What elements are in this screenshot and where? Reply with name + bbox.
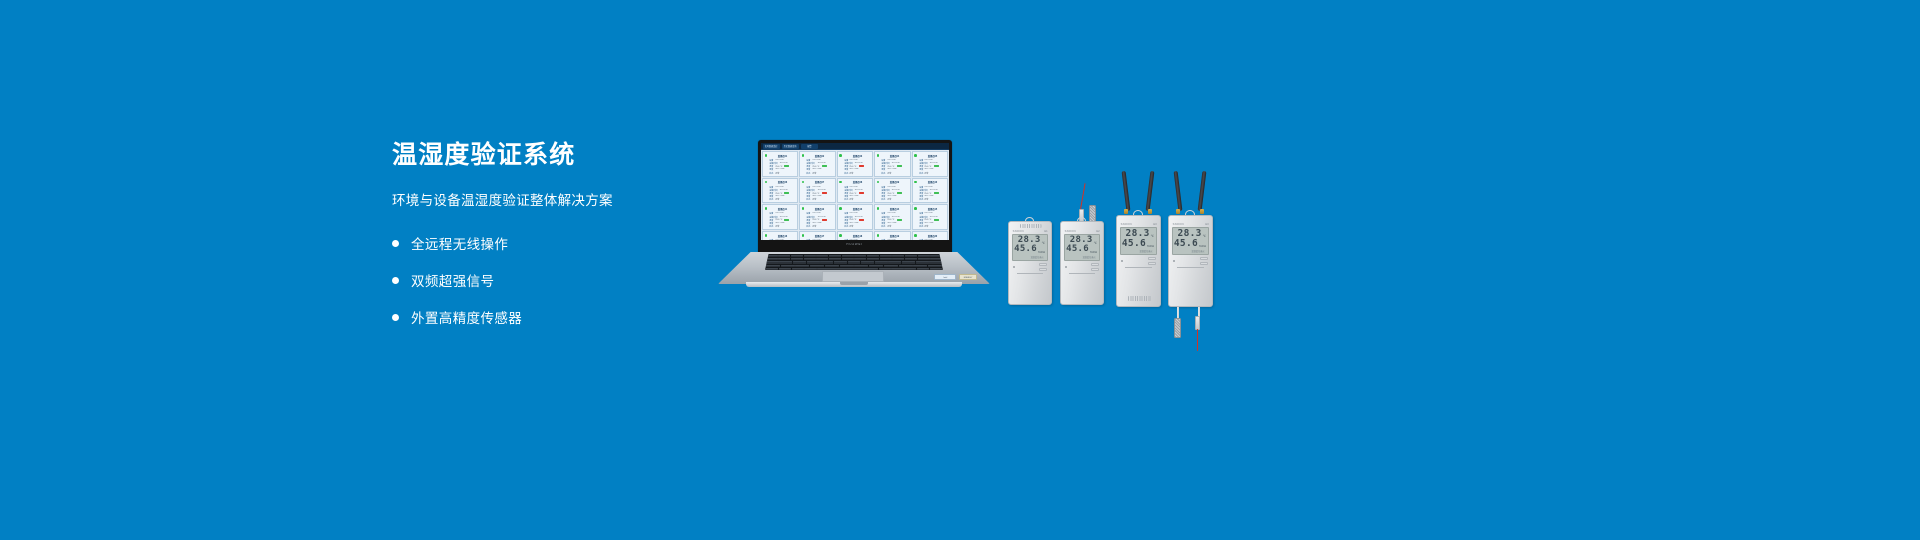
card-row-key: 设备 <box>769 238 773 240</box>
card-row: 状态正常 <box>844 198 871 201</box>
card-row: 状态正常 <box>881 198 908 201</box>
monitor-card[interactable]: 监测点16设备ZD-T100采集时间10:25:30温度25.6 ℃湿度48.2… <box>762 231 798 240</box>
monitor-card[interactable]: 监测点04设备ZD-T100采集时间10:25:30温度25.6 ℃湿度48.2… <box>874 151 910 177</box>
monitor-card[interactable]: 监测点08设备ZD-T100采集时间10:25:30温度25.6 ℃湿度48.2… <box>837 178 873 204</box>
laptop-base: Intel ENERGY <box>718 252 990 288</box>
card-row: 状态正常 <box>844 225 871 228</box>
card-status-dot-icon <box>877 181 880 184</box>
laptop-screen: 实时数据监控 历史数据查询 报警 监测点01设备ZD-T100采集时间10:25… <box>761 143 949 240</box>
keyboard-key[interactable] <box>829 258 841 260</box>
card-row-value: 10:25:30 <box>780 189 788 191</box>
probe-mesh-sensor <box>1174 318 1181 338</box>
device-1-body: SNOON H1 28.3 ℃ 45.6 %RH 温湿度记录仪 <box>1008 221 1052 305</box>
card-row-value: 10:25:30 <box>854 189 862 191</box>
keyboard-key[interactable] <box>840 265 854 267</box>
card-status-dot-icon <box>839 234 842 237</box>
page-subtitle: 环境与设备温湿度验证整体解决方案 <box>392 189 722 209</box>
laptop-brand-strip: HUAWEI <box>761 240 949 248</box>
lcd-humidity-value: 45.6 <box>1174 239 1198 249</box>
keyboard-key[interactable] <box>888 261 901 263</box>
antenna-right-icon <box>1146 171 1155 211</box>
monitor-card[interactable]: 监测点14设备ZD-T100采集时间10:25:30温度25.6 ℃湿度48.2… <box>874 204 910 230</box>
feature-list: 全远程无线操作 双频超强信号 外置高精度传感器 <box>392 231 722 330</box>
keyboard-key[interactable] <box>825 265 839 267</box>
card-row: 状态正常 <box>769 225 796 228</box>
device-1-lcd: 28.3 ℃ 45.6 %RH 温湿度记录仪 <box>1012 234 1048 261</box>
keyboard-key[interactable] <box>766 265 780 267</box>
card-title: 监测点07 <box>807 180 832 184</box>
keyboard-key[interactable] <box>930 268 942 270</box>
antenna-right-icon <box>1198 171 1207 211</box>
card-row-value: 25.6 ℃ <box>887 218 894 221</box>
card-row-value: 10:25:30 <box>854 162 862 164</box>
card-temp-status-chip <box>859 219 864 221</box>
card-status-dot-icon <box>802 234 805 237</box>
keyboard-key[interactable] <box>902 261 915 263</box>
feature-label: 双频超强信号 <box>411 270 494 290</box>
tab-label: 报警 <box>807 144 811 148</box>
card-row-value: ZD-T100 <box>925 239 933 240</box>
monitor-card[interactable]: 监测点13设备ZD-T100采集时间10:25:30温度25.6 ℃湿度48.2… <box>837 204 873 230</box>
card-row-value: 10:25:30 <box>817 162 825 164</box>
card-title: 监测点17 <box>807 234 832 238</box>
keyboard-key[interactable] <box>892 258 904 260</box>
monitor-card[interactable]: 监测点10设备ZD-T100采集时间10:25:30温度25.6 ℃湿度48.2… <box>912 178 948 204</box>
card-title: 监测点11 <box>770 207 795 211</box>
device-1-controls <box>1009 261 1051 272</box>
card-row-value: 10:25:30 <box>892 162 900 164</box>
card-row: 状态正常 <box>919 198 946 201</box>
lcd-footer-label: 温湿度记录仪 <box>1125 249 1153 253</box>
keyboard-key[interactable] <box>834 261 847 263</box>
card-title: 监测点09 <box>882 180 907 184</box>
card-row-key: 状态 <box>769 224 773 228</box>
monitor-card[interactable]: 监测点15设备ZD-T100采集时间10:25:30温度25.6 ℃湿度48.2… <box>912 204 948 230</box>
monitor-card[interactable]: 监测点12设备ZD-T100采集时间10:25:30温度25.6 ℃湿度48.2… <box>799 204 835 230</box>
device-key-down[interactable] <box>1148 262 1156 266</box>
monitor-card[interactable]: 监测点20设备ZD-T100采集时间10:25:30温度25.6 ℃湿度48.2… <box>912 231 948 240</box>
lcd-hum-line: 45.6 %RH <box>1015 245 1045 254</box>
keyboard-key[interactable] <box>917 268 929 270</box>
card-title: 监测点02 <box>807 154 832 158</box>
card-row: 状态正常 <box>881 225 908 228</box>
card-row-value: ZD-T100 <box>812 239 820 240</box>
keyboard-key[interactable] <box>816 255 828 257</box>
keyboard-key[interactable] <box>854 265 868 267</box>
lcd-humidity-unit: %RH <box>1147 245 1154 248</box>
card-status-dot-icon <box>765 234 768 237</box>
card-row: 状态正常 <box>769 198 796 201</box>
probe-wire <box>1197 329 1198 351</box>
card-row-value: 25.6 ℃ <box>812 192 819 195</box>
device-4: SNOON H3 28.3 ℃ 45.6 %RH 温湿度记录仪 <box>1168 215 1213 307</box>
keyboard-key[interactable] <box>880 258 892 260</box>
device-model-label: H3 <box>1153 222 1156 226</box>
card-title: 监测点16 <box>770 234 795 238</box>
keyboard-key[interactable] <box>791 258 803 260</box>
keyboard-key[interactable] <box>916 261 929 263</box>
card-status-dot-icon <box>877 234 880 237</box>
device-3-lcd: 28.3 ℃ 45.6 %RH 温湿度记录仪 <box>1120 227 1157 255</box>
monitor-card[interactable]: 监测点07设备ZD-T100采集时间10:25:30温度25.6 ℃湿度48.2… <box>799 178 835 204</box>
card-row-value: 正常 <box>850 198 854 202</box>
lcd-footer-label: 温湿度记录仪 <box>1177 249 1205 253</box>
keyboard-key[interactable] <box>804 258 816 260</box>
monitor-card[interactable]: 监测点03设备ZD-T100采集时间10:25:30温度25.6 ℃湿度48.2… <box>837 151 873 177</box>
card-row-value: 正常 <box>775 198 779 202</box>
tab-history[interactable]: 历史数据查询 <box>782 144 799 149</box>
monitor-card[interactable]: 监测点01设备ZD-T100采集时间10:25:30温度25.6 ℃湿度48.2… <box>762 151 798 177</box>
device-underline <box>1017 273 1043 274</box>
lcd-humidity-unit: %RH <box>1090 251 1097 254</box>
keyboard-key[interactable] <box>905 255 917 257</box>
device-brand-label: SNOON <box>1173 222 1184 226</box>
card-row-value: 正常 <box>924 171 928 175</box>
card-status-dot-icon <box>802 181 805 184</box>
keyboard-key[interactable] <box>766 268 778 270</box>
device-2-body: SNOON H2 28.3 ℃ 45.6 %RH 温湿度记录仪 <box>1060 221 1104 305</box>
card-status-dot-icon <box>877 207 880 210</box>
feature-item-3: 外置高精度传感器 <box>392 305 722 330</box>
keyboard-key[interactable] <box>880 255 892 257</box>
card-temp-status-chip <box>822 192 827 194</box>
feature-item-2: 双频超强信号 <box>392 268 722 293</box>
keyboard-key[interactable] <box>884 265 898 267</box>
card-temp-status-chip <box>784 192 789 194</box>
antenna-connector-left <box>1176 209 1180 214</box>
antenna-left-icon <box>1122 171 1131 211</box>
card-row: 状态正常 <box>769 171 796 174</box>
card-row: 状态正常 <box>881 171 908 174</box>
device-underline <box>1177 267 1204 268</box>
card-title: 监测点03 <box>845 154 870 158</box>
sticker-label: ENERGY <box>964 276 973 279</box>
keyboard-key[interactable] <box>918 258 930 260</box>
keyboard-key[interactable] <box>869 265 883 267</box>
card-row: 状态正常 <box>806 171 833 174</box>
card-row-value: 正常 <box>887 224 891 228</box>
device-keypad[interactable] <box>1039 263 1047 272</box>
card-row: 设备ZD-T100 <box>919 239 946 241</box>
card-row-value: 25.6 ℃ <box>850 218 857 221</box>
device-group: SNOON H1 28.3 ℃ 45.6 %RH 温湿度记录仪 <box>1000 185 1215 325</box>
keyboard-key[interactable] <box>766 261 779 263</box>
card-row-key: 状态 <box>769 198 773 202</box>
card-row-key: 状态 <box>844 171 848 175</box>
card-temp-status-chip <box>934 219 939 221</box>
device-keypad[interactable] <box>1148 257 1156 266</box>
laptop-lid: 实时数据监控 历史数据查询 报警 监测点01设备ZD-T100采集时间10:25… <box>758 140 952 252</box>
tab-label: 历史数据查询 <box>784 144 797 148</box>
card-row-key: 状态 <box>919 198 923 202</box>
keyboard-key[interactable] <box>848 261 861 263</box>
feature-label: 全远程无线操作 <box>411 233 508 253</box>
keyboard-key[interactable] <box>804 255 816 257</box>
card-row: 设备ZD-T100 <box>844 239 871 241</box>
lcd-temperature-unit: ℃ <box>1151 235 1154 238</box>
keyboard-key[interactable] <box>913 265 927 267</box>
card-status-dot-icon <box>839 154 842 157</box>
card-row-value: 10:25:30 <box>780 162 788 164</box>
device-brand-label: SNOON <box>1013 229 1024 233</box>
card-row-value: 正常 <box>924 198 928 202</box>
card-row-value: 25.6 ℃ <box>925 218 932 221</box>
monitor-card[interactable]: 监测点06设备ZD-T100采集时间10:25:30温度25.6 ℃湿度48.2… <box>762 178 798 204</box>
card-row-value: 正常 <box>924 224 928 228</box>
keyboard-key[interactable] <box>781 265 795 267</box>
tab-alarm[interactable]: 报警 <box>801 144 818 149</box>
card-row-key: 设备 <box>844 238 848 240</box>
copy-block: 温湿度验证系统 环境与设备温湿度验证整体解决方案 全远程无线操作 双频超强信号 … <box>392 141 722 342</box>
card-title: 监测点10 <box>920 180 945 184</box>
lcd-hum-line: 45.6 %RH <box>1123 239 1154 249</box>
status-led-icon <box>1173 260 1175 262</box>
app-topbar: 实时数据监控 历史数据查询 报警 <box>761 143 949 150</box>
antenna-connector-left <box>1124 209 1128 214</box>
bullet-dot-icon <box>392 314 399 321</box>
lcd-temperature-unit: ℃ <box>1094 242 1097 245</box>
device-3-body: SNOON H3 28.3 ℃ 45.6 %RH 温湿度记录仪 <box>1116 215 1161 307</box>
lcd-humidity-value: 45.6 <box>1066 245 1089 254</box>
card-row-value: 25.6 ℃ <box>812 218 819 221</box>
card-row-value: 25.6 ℃ <box>775 192 782 195</box>
keyboard-key[interactable] <box>778 258 790 260</box>
card-row-value: 正常 <box>775 171 779 175</box>
card-temp-status-chip <box>784 219 789 221</box>
card-title: 监测点04 <box>882 154 907 158</box>
card-row: 状态正常 <box>806 225 833 228</box>
card-row: 设备ZD-T100 <box>881 239 908 241</box>
card-row: 状态正常 <box>919 225 946 228</box>
keyboard-key[interactable] <box>817 268 877 270</box>
device-key-up[interactable] <box>1148 257 1156 261</box>
device-key-down[interactable] <box>1091 268 1099 272</box>
card-row-value: 正常 <box>887 171 891 175</box>
antenna-connector-right <box>1148 209 1152 214</box>
keyboard-key[interactable] <box>928 265 942 267</box>
card-status-dot-icon <box>802 207 805 210</box>
monitor-card[interactable]: 监测点02设备ZD-T100采集时间10:25:30温度25.6 ℃湿度48.2… <box>799 151 835 177</box>
keyboard-key[interactable] <box>842 255 854 257</box>
card-title: 监测点14 <box>882 207 907 211</box>
device-underline <box>1069 273 1095 274</box>
monitor-card-grid: 监测点01设备ZD-T100采集时间10:25:30温度25.6 ℃湿度48.2… <box>761 150 949 240</box>
card-row-key: 状态 <box>844 224 848 228</box>
card-row-value: 10:25:30 <box>817 189 825 191</box>
card-row: 状态正常 <box>919 171 946 174</box>
keyboard-key[interactable] <box>842 258 854 260</box>
status-led-icon <box>1065 266 1067 268</box>
keyboard-key[interactable] <box>929 261 942 263</box>
lcd-temperature-unit: ℃ <box>1042 242 1045 245</box>
device-key-down[interactable] <box>1039 268 1047 272</box>
card-row-value: 正常 <box>850 171 854 175</box>
card-status-dot-icon <box>914 181 917 184</box>
card-temp-status-chip <box>897 219 902 221</box>
monitor-card[interactable]: 监测点17设备ZD-T100采集时间10:25:30温度25.6 ℃湿度48.2… <box>799 231 835 240</box>
card-row-value: 正常 <box>812 171 816 175</box>
tab-label: 实时数据监控 <box>765 144 778 148</box>
device-1: SNOON H1 28.3 ℃ 45.6 %RH 温湿度记录仪 <box>1008 221 1052 305</box>
vent-grille <box>1128 296 1151 301</box>
keyboard-key[interactable] <box>918 255 930 257</box>
monitor-card[interactable]: 监测点18设备ZD-T100采集时间10:25:30温度25.6 ℃湿度48.2… <box>837 231 873 240</box>
lcd-temperature-unit: ℃ <box>1203 235 1206 238</box>
card-row-value: 25.6 ℃ <box>925 192 932 195</box>
card-status-dot-icon <box>914 207 917 210</box>
card-row-key: 状态 <box>807 171 811 175</box>
card-status-dot-icon <box>914 234 917 237</box>
keyboard-key[interactable] <box>861 261 874 263</box>
keyboard-key[interactable] <box>807 261 820 263</box>
lcd-humidity-value: 45.6 <box>1014 245 1037 254</box>
device-brand-label: SNOON <box>1121 222 1132 226</box>
laptop-illustration: 实时数据监控 历史数据查询 报警 监测点01设备ZD-T100采集时间10:25… <box>718 140 990 300</box>
device-keypad[interactable] <box>1091 263 1099 272</box>
card-row-value: 正常 <box>887 198 891 202</box>
card-row-key: 状态 <box>881 198 885 202</box>
probe-cap <box>1195 316 1200 330</box>
device-underline <box>1125 267 1152 268</box>
keyboard-key[interactable] <box>779 261 792 263</box>
device-key-down[interactable] <box>1200 262 1208 266</box>
device-key-up[interactable] <box>1039 263 1047 267</box>
card-row-key: 设备 <box>919 238 923 240</box>
keyboard-key[interactable] <box>792 268 804 270</box>
lcd-humidity-unit: %RH <box>1199 245 1206 248</box>
card-row-key: 状态 <box>919 224 923 228</box>
bullet-dot-icon <box>392 240 399 247</box>
laptop-keyboard[interactable] <box>765 254 943 270</box>
card-row-value: 10:25:30 <box>929 162 937 164</box>
card-row-value: 正常 <box>812 198 816 202</box>
lcd-footer-label: 温湿度记录仪 <box>1069 255 1096 259</box>
device-model-label: H3 <box>1205 222 1208 226</box>
device-2-lcd: 28.3 ℃ 45.6 %RH 温湿度记录仪 <box>1064 234 1100 261</box>
keyboard-key[interactable] <box>899 265 913 267</box>
keyboard-key[interactable] <box>791 255 803 257</box>
keyboard-key[interactable] <box>891 268 903 270</box>
card-row: 设备ZD-T100 <box>806 239 833 241</box>
keyboard-key[interactable] <box>867 255 879 257</box>
lcd-footer-label: 温湿度记录仪 <box>1017 255 1044 259</box>
keyboard-key[interactable] <box>810 265 824 267</box>
card-row-key: 状态 <box>881 171 885 175</box>
card-title: 监测点05 <box>920 154 945 158</box>
feature-label: 外置高精度传感器 <box>411 307 522 327</box>
keyboard-key[interactable] <box>875 261 888 263</box>
card-row: 状态正常 <box>806 198 833 201</box>
card-temp-status-chip <box>859 192 864 194</box>
keyboard-key[interactable] <box>854 258 866 260</box>
lcd-hum-line: 45.6 %RH <box>1175 239 1206 249</box>
lcd-hum-line: 45.6 %RH <box>1067 245 1097 254</box>
card-temp-status-chip <box>822 219 827 221</box>
keyboard-key[interactable] <box>854 255 866 257</box>
monitor-card[interactable]: 监测点05设备ZD-T100采集时间10:25:30温度25.6 ℃湿度48.2… <box>912 151 948 177</box>
device-2: SNOON H2 28.3 ℃ 45.6 %RH 温湿度记录仪 <box>1060 221 1104 305</box>
device-key-up[interactable] <box>1091 263 1099 267</box>
card-title: 监测点20 <box>920 234 945 238</box>
card-row-value: 10:25:30 <box>892 189 900 191</box>
card-status-dot-icon <box>839 181 842 184</box>
card-row-value: 25.6 ℃ <box>887 192 894 195</box>
monitor-card[interactable]: 监测点11设备ZD-T100采集时间10:25:30温度25.6 ℃湿度48.2… <box>762 204 798 230</box>
device-4-body: SNOON H3 28.3 ℃ 45.6 %RH 温湿度记录仪 <box>1168 215 1213 307</box>
card-row-key: 设备 <box>881 238 885 240</box>
card-row-key: 状态 <box>881 224 885 228</box>
card-row-value: 10:25:30 <box>929 189 937 191</box>
keyboard-key[interactable] <box>795 265 809 267</box>
monitor-card[interactable]: 监测点19设备ZD-T100采集时间10:25:30温度25.6 ℃湿度48.2… <box>874 231 910 240</box>
sticker-energy: ENERGY <box>959 274 977 280</box>
device-model-label: H2 <box>1096 229 1099 233</box>
device-2-controls <box>1061 261 1103 272</box>
status-led-icon <box>1121 260 1123 262</box>
lcd-humidity-value: 45.6 <box>1122 239 1146 249</box>
keyboard-key[interactable] <box>779 268 791 270</box>
card-title: 监测点12 <box>807 207 832 211</box>
device-key-up[interactable] <box>1200 257 1208 261</box>
card-status-dot-icon <box>877 154 880 157</box>
sticker-intel: Intel <box>934 274 956 280</box>
monitor-card[interactable]: 监测点09设备ZD-T100采集时间10:25:30温度25.6 ℃湿度48.2… <box>874 178 910 204</box>
tab-realtime[interactable]: 实时数据监控 <box>763 144 780 149</box>
card-row-value: ZD-T100 <box>887 239 895 240</box>
keyboard-key[interactable] <box>816 258 828 260</box>
feature-item-1: 全远程无线操作 <box>392 231 722 256</box>
keyboard-row <box>765 268 943 270</box>
lcd-humidity-unit: %RH <box>1038 251 1045 254</box>
card-title: 监测点13 <box>845 207 870 211</box>
device-model-label: H1 <box>1044 229 1047 233</box>
keyboard-key[interactable] <box>829 255 841 257</box>
card-row-key: 状态 <box>807 224 811 228</box>
keyboard-key[interactable] <box>879 268 891 270</box>
keyboard-key[interactable] <box>867 258 879 260</box>
card-title: 监测点18 <box>845 234 870 238</box>
sticker-label: Intel <box>943 276 947 279</box>
card-status-dot-icon <box>765 181 768 184</box>
device-3-controls <box>1117 255 1160 266</box>
vent-grille <box>1020 224 1042 228</box>
keyboard-key[interactable] <box>804 268 816 270</box>
keyboard-key[interactable] <box>904 268 916 270</box>
keyboard-key[interactable] <box>793 261 806 263</box>
keyboard-key[interactable] <box>892 255 904 257</box>
card-status-dot-icon <box>802 154 805 157</box>
card-title: 监测点01 <box>770 154 795 158</box>
device-brand-label: SNOON <box>1065 229 1076 233</box>
antenna-left-icon <box>1174 171 1183 211</box>
card-status-dot-icon <box>765 207 768 210</box>
card-row-key: 状态 <box>844 198 848 202</box>
device-4-controls <box>1169 255 1212 266</box>
card-status-dot-icon <box>914 154 917 157</box>
keyboard-key[interactable] <box>905 258 917 260</box>
card-row-value: ZD-T100 <box>775 239 783 240</box>
laptop-brand-label: HUAWEI <box>847 242 863 246</box>
keyboard-key[interactable] <box>778 255 790 257</box>
card-title: 监测点06 <box>770 180 795 184</box>
card-row-value: 正常 <box>850 224 854 228</box>
keyboard-key[interactable] <box>820 261 833 263</box>
device-keypad[interactable] <box>1200 257 1208 266</box>
card-temp-status-chip <box>897 192 902 194</box>
laptop-trackpad[interactable] <box>822 271 884 282</box>
card-title: 监测点08 <box>845 180 870 184</box>
card-title: 监测点19 <box>882 234 907 238</box>
